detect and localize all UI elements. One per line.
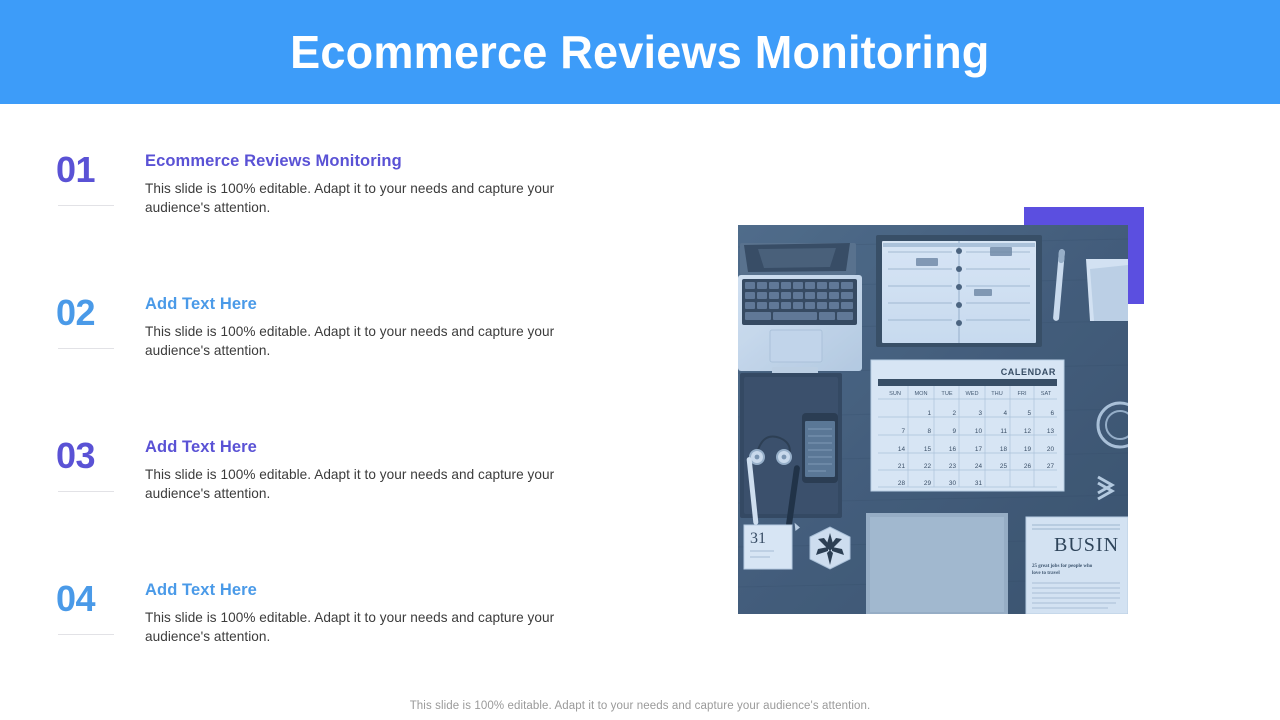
- list-item-body: Add Text Here This slide is 100% editabl…: [145, 295, 615, 360]
- list-item-number: 02: [56, 295, 122, 331]
- slide: Ecommerce Reviews Monitoring 01 Ecommerc…: [0, 0, 1280, 720]
- list-item-text: This slide is 100% editable. Adapt it to…: [145, 322, 615, 361]
- list-item[interactable]: 03 Add Text Here This slide is 100% edit…: [56, 438, 656, 548]
- list-item-text: This slide is 100% editable. Adapt it to…: [145, 608, 615, 647]
- list-item-divider: [58, 348, 114, 349]
- list-item-heading: Ecommerce Reviews Monitoring: [145, 152, 615, 172]
- list-item-number: 01: [56, 152, 122, 188]
- desk-photo-illustration: CALENDAR SUNMON TUEWED THUFRI SAT: [738, 225, 1128, 614]
- list-item-text: This slide is 100% editable. Adapt it to…: [145, 179, 615, 218]
- numbered-list: 01 Ecommerce Reviews Monitoring This sli…: [0, 104, 660, 684]
- list-item[interactable]: 04 Add Text Here This slide is 100% edit…: [56, 581, 656, 691]
- list-item-body: Add Text Here This slide is 100% editabl…: [145, 438, 615, 503]
- list-item-heading: Add Text Here: [145, 581, 615, 601]
- list-item[interactable]: 02 Add Text Here This slide is 100% edit…: [56, 295, 656, 405]
- list-item-body: Add Text Here This slide is 100% editabl…: [145, 581, 615, 646]
- list-item-number: 04: [56, 581, 122, 617]
- desk-photo: CALENDAR SUNMON TUEWED THUFRI SAT: [738, 225, 1128, 614]
- list-item-body: Ecommerce Reviews Monitoring This slide …: [145, 152, 615, 217]
- list-item-number: 03: [56, 438, 122, 474]
- list-item-text: This slide is 100% editable. Adapt it to…: [145, 465, 615, 504]
- header-bar: Ecommerce Reviews Monitoring: [0, 0, 1280, 104]
- list-item-divider: [58, 205, 114, 206]
- media-block: CALENDAR SUNMON TUEWED THUFRI SAT: [738, 207, 1144, 614]
- page-title: Ecommerce Reviews Monitoring: [290, 25, 989, 79]
- list-item-divider: [58, 634, 114, 635]
- list-item-heading: Add Text Here: [145, 295, 615, 315]
- list-item[interactable]: 01 Ecommerce Reviews Monitoring This sli…: [56, 152, 656, 262]
- list-item-heading: Add Text Here: [145, 438, 615, 458]
- list-item-divider: [58, 491, 114, 492]
- footer-note: This slide is 100% editable. Adapt it to…: [0, 700, 1280, 712]
